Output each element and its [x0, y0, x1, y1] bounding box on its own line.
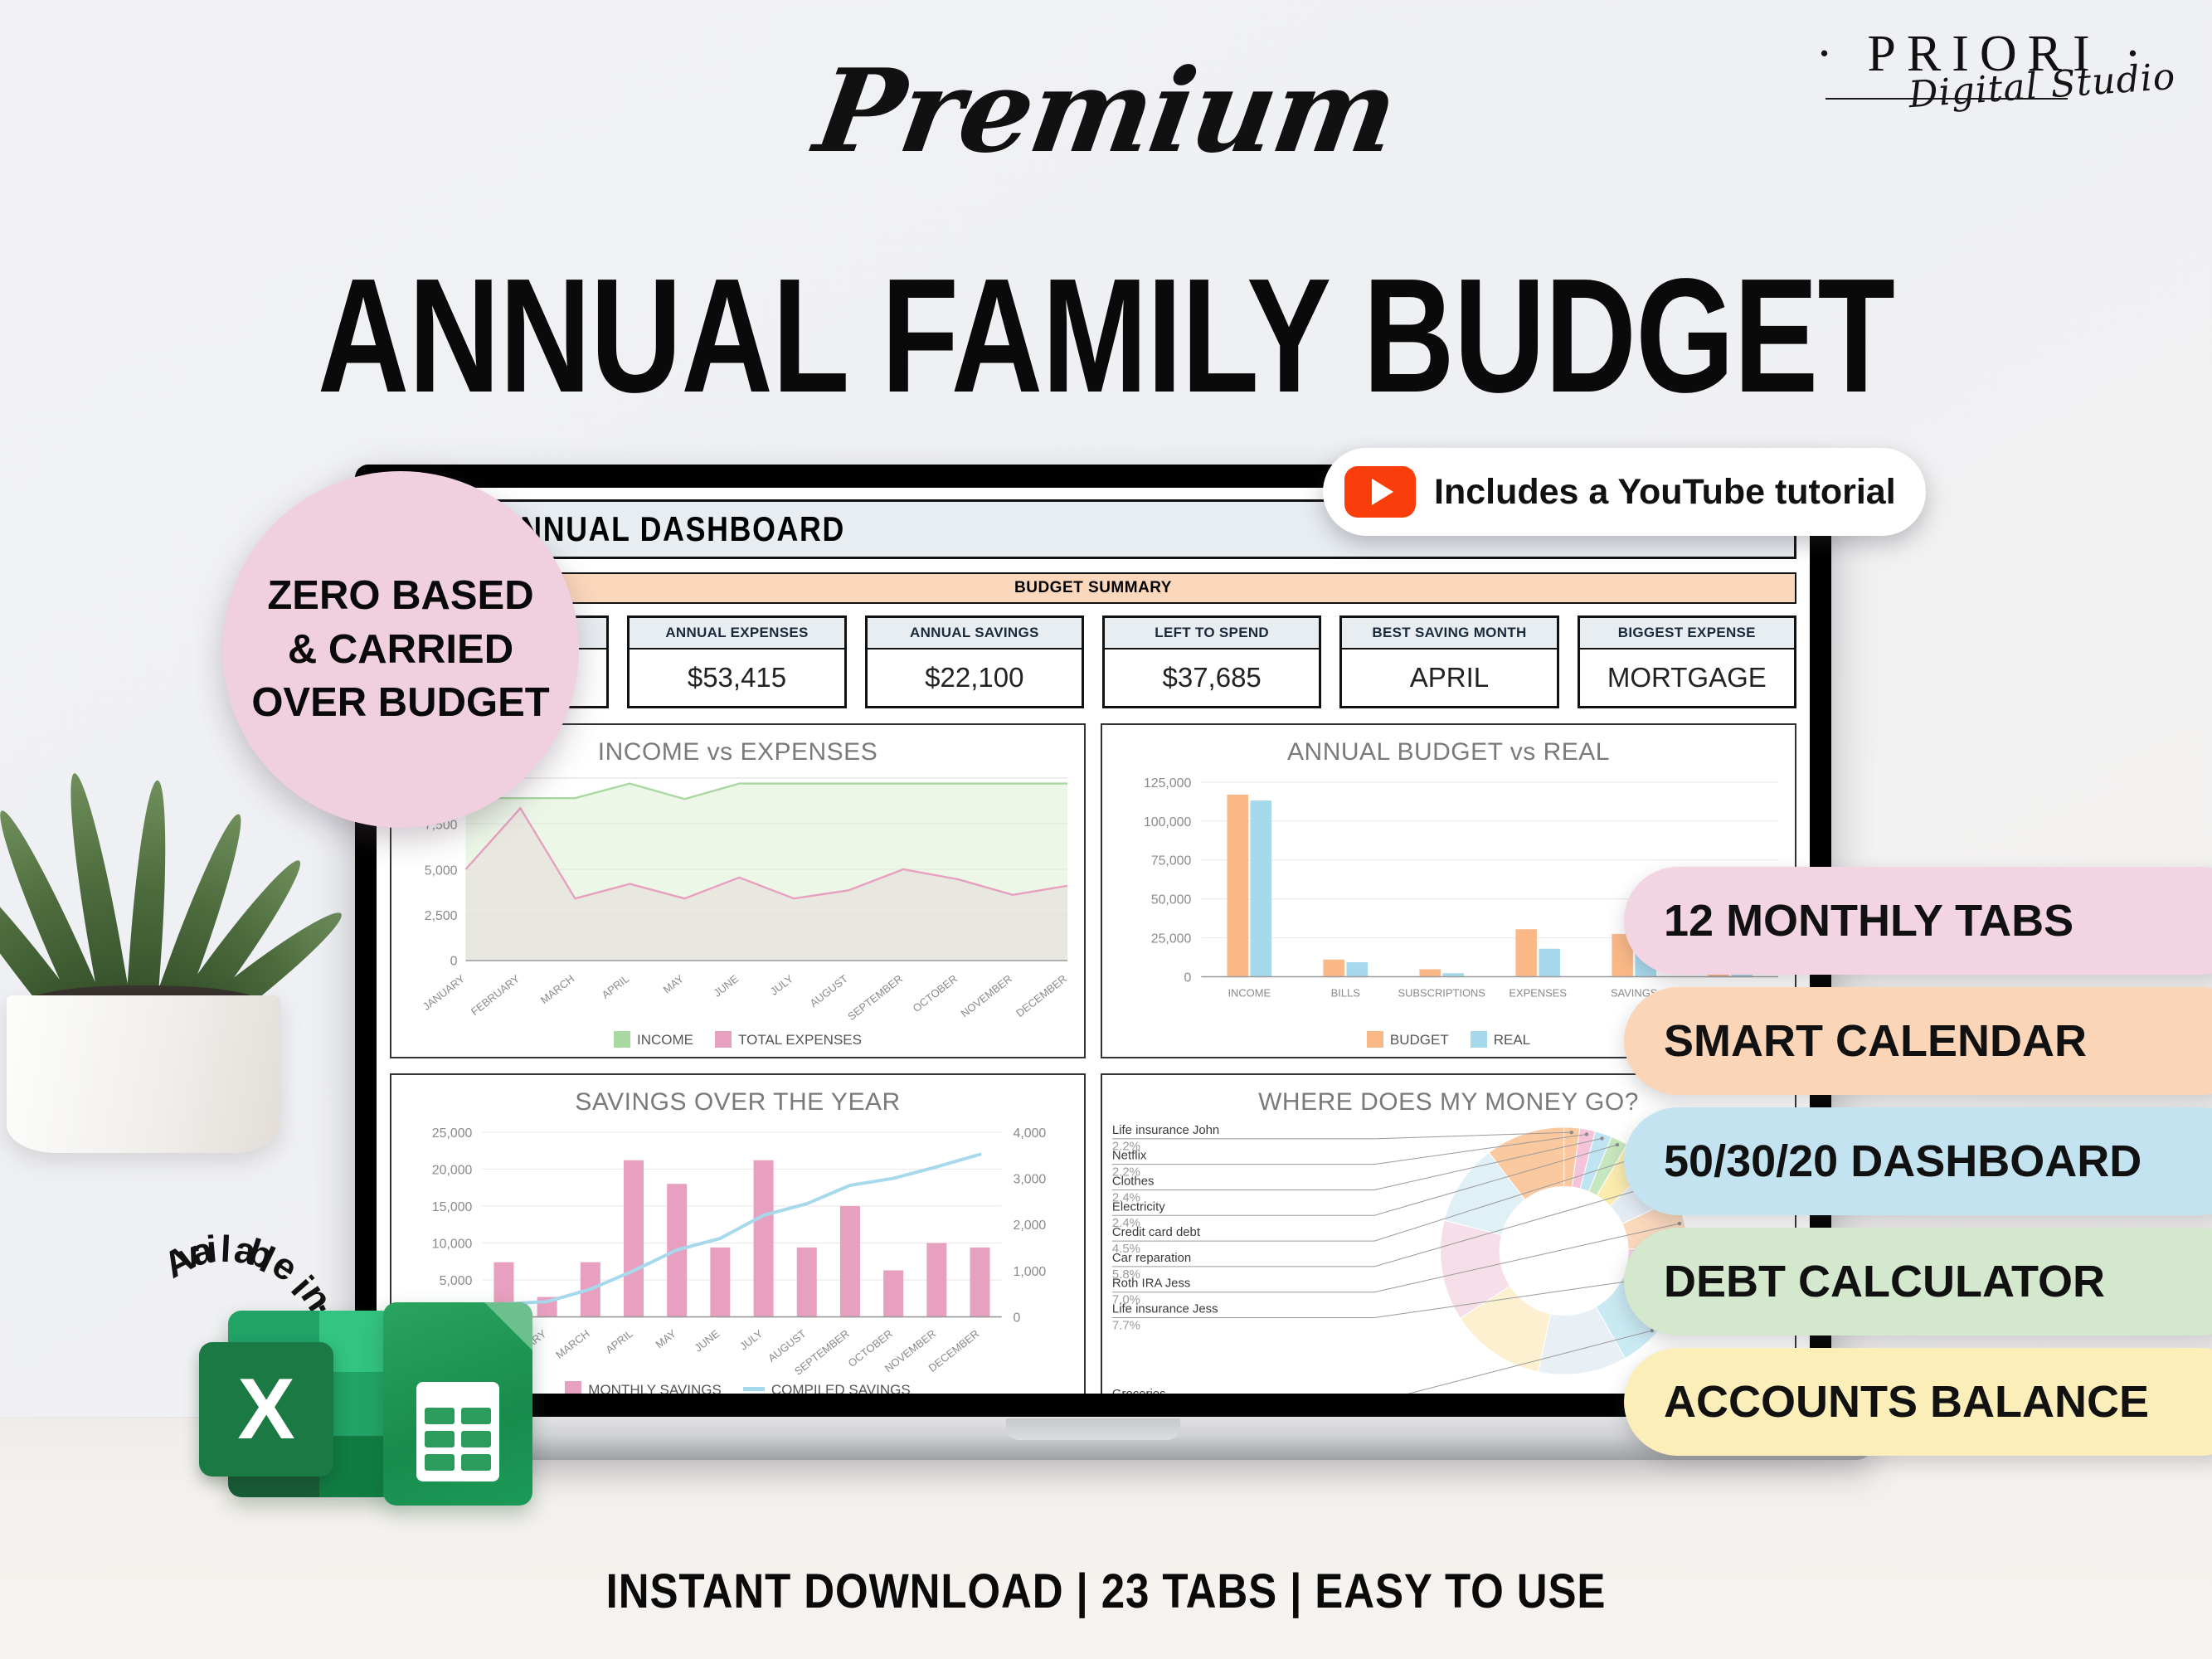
chart-axis-labels: 02,5005,0007,50010,000JANUARYFEBRUARYMAR…	[391, 770, 1084, 1058]
svg-text:SEPTEMBER: SEPTEMBER	[845, 972, 905, 1023]
svg-text:3,000: 3,000	[1014, 1173, 1047, 1187]
summary-card[interactable]: BEST SAVING MONTH APRIL	[1339, 615, 1558, 708]
svg-text:1,000: 1,000	[1014, 1265, 1047, 1279]
app-icons: X	[199, 1302, 614, 1551]
svg-text:Life insurance John: Life insurance John	[1112, 1124, 1219, 1137]
zero-based-line: OVER BUDGET	[251, 676, 549, 730]
svg-text:NOVEMBER: NOVEMBER	[959, 972, 1014, 1019]
svg-text:7.7%: 7.7%	[1112, 1319, 1140, 1332]
google-sheets-icon	[383, 1302, 532, 1506]
feature-pill-503020-dashboard[interactable]: 50/30/20 DASHBOARD	[1624, 1107, 2212, 1215]
footer-tagline: INSTANT DOWNLOAD | 23 TABS | EASY TO USE	[133, 1564, 2079, 1619]
summary-card-value: MORTGAGE	[1580, 649, 1794, 706]
svg-text:SUBSCRIPTIONS: SUBSCRIPTIONS	[1398, 986, 1486, 999]
svg-text:100,000: 100,000	[1144, 815, 1192, 829]
sheets-table-glyph	[416, 1382, 499, 1481]
svg-text:JULY: JULY	[737, 1327, 766, 1353]
svg-text:10,000: 10,000	[432, 1237, 473, 1251]
feature-pill-accounts-balance[interactable]: ACCOUNTS BALANCE	[1624, 1348, 2212, 1456]
summary-card-value: $53,415	[630, 649, 843, 706]
laptop-notch	[1006, 1418, 1180, 1440]
youtube-tutorial-badge[interactable]: Includes a YouTube tutorial	[1323, 448, 1926, 536]
summary-card-label: BEST SAVING MONTH	[1342, 618, 1556, 649]
svg-text:MARCH: MARCH	[538, 972, 577, 1006]
legend-item: COMPILED SAVINGS	[743, 1382, 911, 1394]
summary-card-label: BIGGEST EXPENSE	[1580, 618, 1794, 649]
feature-pill-debt-calculator[interactable]: DEBT CALCULATOR	[1624, 1228, 2212, 1335]
svg-text:Groceries: Groceries	[1112, 1388, 1166, 1394]
svg-text:5,000: 5,000	[425, 864, 458, 878]
excel-x-glyph: X	[199, 1342, 333, 1477]
summary-card-label: ANNUAL SAVINGS	[868, 618, 1082, 649]
youtube-play-icon	[1344, 466, 1416, 518]
svg-text:JUNE: JUNE	[692, 1327, 722, 1355]
svg-text:EXPENSES: EXPENSES	[1509, 986, 1567, 999]
summary-card[interactable]: ANNUAL SAVINGS $22,100	[865, 615, 1084, 708]
svg-text:5,000: 5,000	[440, 1274, 473, 1288]
summary-card[interactable]: BIGGEST EXPENSE MORTGAGE	[1578, 615, 1796, 708]
summary-card[interactable]: LEFT TO SPEND $37,685	[1102, 615, 1321, 708]
summary-card-value: APRIL	[1342, 649, 1556, 706]
charts-grid: INCOME vs EXPENSES 02,5005,0007,50010,00…	[390, 723, 1796, 1394]
svg-text:0: 0	[1014, 1311, 1021, 1326]
svg-text:Roth IRA Jess: Roth IRA Jess	[1112, 1277, 1190, 1291]
svg-text:0: 0	[1184, 971, 1192, 985]
feature-pill-monthly-tabs[interactable]: 12 MONTHLY TABS	[1624, 867, 2212, 975]
svg-text:BILLS: BILLS	[1331, 986, 1361, 999]
svg-text:15,000: 15,000	[432, 1200, 473, 1214]
legend-item: INCOME	[614, 1031, 693, 1048]
brand-logo: · PRIORI · Digital Studio	[1789, 18, 2179, 126]
chart-title: SAVINGS OVER THE YEAR	[391, 1075, 1084, 1117]
summary-card-label: ANNUAL EXPENSES	[630, 618, 843, 649]
svg-text:75,000: 75,000	[1151, 854, 1192, 868]
feature-pill-list: 12 MONTHLY TABS SMART CALENDAR 50/30/20 …	[1624, 867, 2212, 1468]
svg-text:MAY: MAY	[661, 972, 687, 996]
chart-legend: INCOME TOTAL EXPENSES	[391, 1031, 1084, 1048]
spreadsheet-dashboard: ANNUAL DASHBOARD BUDGET SUMMARY ANNUAL I…	[377, 488, 1810, 1394]
available-in-char: l	[220, 1228, 232, 1272]
svg-text:Life insurance Jess: Life insurance Jess	[1112, 1303, 1218, 1316]
svg-text:25,000: 25,000	[432, 1126, 473, 1141]
svg-text:50,000: 50,000	[1151, 893, 1192, 907]
svg-text:AUGUST: AUGUST	[766, 1327, 809, 1365]
svg-text:0: 0	[450, 955, 458, 969]
zero-based-badge: ZERO BASED & CARRIED OVER BUDGET	[222, 471, 579, 828]
svg-text:OCTOBER: OCTOBER	[911, 972, 960, 1014]
page-title: ANNUAL FAMILY BUDGET	[243, 261, 1968, 411]
summary-card[interactable]: ANNUAL EXPENSES $53,415	[627, 615, 846, 708]
summary-card-label: LEFT TO SPEND	[1105, 618, 1319, 649]
plant-pot	[7, 995, 280, 1153]
laptop-lid: ANNUAL DASHBOARD BUDGET SUMMARY ANNUAL I…	[355, 465, 1831, 1418]
feature-pill-smart-calendar[interactable]: SMART CALENDAR	[1624, 987, 2212, 1095]
legend-item: TOTAL EXPENSES	[715, 1031, 862, 1048]
svg-text:JANUARY: JANUARY	[421, 972, 468, 1013]
laptop-screen: ANNUAL DASHBOARD BUDGET SUMMARY ANNUAL I…	[377, 488, 1810, 1394]
summary-card-value: $22,100	[868, 649, 1082, 706]
svg-text:2,000: 2,000	[1014, 1219, 1047, 1233]
svg-text:JUNE: JUNE	[711, 972, 741, 1000]
svg-text:APRIL: APRIL	[600, 972, 632, 1001]
legend-item: BUDGET	[1367, 1031, 1449, 1048]
summary-cards: ANNUAL INCOME $113,200 ANNUAL EXPENSES $…	[390, 615, 1796, 708]
zero-based-line: & CARRIED	[288, 623, 513, 677]
legend-item: REAL	[1471, 1031, 1530, 1048]
svg-text:125,000: 125,000	[1144, 776, 1192, 791]
svg-text:4,000: 4,000	[1014, 1126, 1047, 1141]
budget-summary-band: BUDGET SUMMARY	[390, 572, 1796, 604]
svg-text:Credit card debt: Credit card debt	[1112, 1226, 1201, 1239]
svg-text:Netflix: Netflix	[1112, 1150, 1147, 1163]
svg-text:2,500: 2,500	[425, 909, 458, 923]
svg-text:INCOME: INCOME	[1228, 986, 1271, 999]
svg-text:25,000: 25,000	[1151, 932, 1192, 946]
svg-text:Electricity: Electricity	[1112, 1200, 1165, 1214]
youtube-tutorial-label: Includes a YouTube tutorial	[1434, 472, 1896, 513]
svg-text:FEBRUARY: FEBRUARY	[469, 972, 523, 1018]
svg-text:JULY: JULY	[768, 972, 796, 998]
svg-text:Car reparation: Car reparation	[1112, 1252, 1191, 1265]
chart-title: ANNUAL BUDGET vs REAL	[1102, 725, 1795, 766]
sheets-fold	[484, 1302, 532, 1350]
svg-text:AUGUST: AUGUST	[807, 972, 850, 1010]
zero-based-line: ZERO BASED	[267, 569, 533, 623]
summary-card-value: $37,685	[1105, 649, 1319, 706]
svg-text:Clothes: Clothes	[1112, 1175, 1155, 1188]
svg-text:20,000: 20,000	[432, 1163, 473, 1177]
svg-text:DECEMBER: DECEMBER	[1014, 972, 1069, 1019]
svg-text:MAY: MAY	[654, 1327, 679, 1351]
